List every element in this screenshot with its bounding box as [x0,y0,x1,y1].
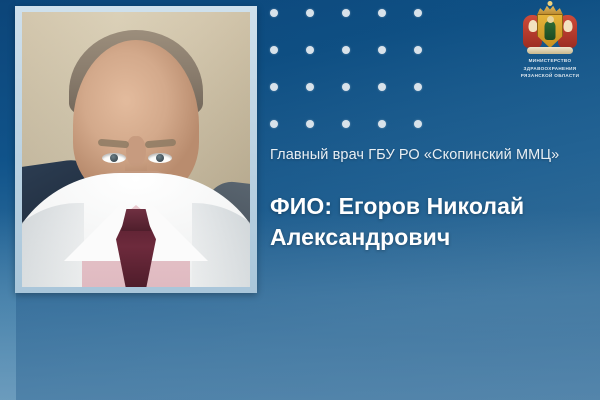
photo-coat-shade-right [192,203,250,287]
decorative-dot [270,46,278,54]
photo-eyebrow-left [145,139,176,149]
decorative-dot [270,83,278,91]
decorative-dot [378,46,386,54]
decorative-dot [378,120,386,128]
decorative-dot [306,83,314,91]
decorative-dot [342,9,350,17]
decorative-dot [378,9,386,17]
decorative-dot [414,83,422,91]
crown-orb-icon [548,1,553,6]
ministry-name-line-3: РЯЗАНСКОЙ ОБЛАСТИ [508,73,592,79]
decorative-dot [414,46,422,54]
decorative-dot [306,46,314,54]
ministry-name-line-2: ЗДРАВООХРАНЕНИЯ [508,66,592,72]
decorative-dot [270,120,278,128]
photo-coat-shade-left [22,203,84,287]
decorative-dot [342,83,350,91]
decorative-dot [414,120,422,128]
coat-of-arms-icon [523,4,577,56]
left-edge-accent [0,0,16,400]
decorative-dot [342,120,350,128]
decorative-dot [306,9,314,17]
ministry-name-line-1: МИНИСТЕРСТВО [508,58,592,64]
photo-eye-right [102,153,126,163]
decorative-dot [414,9,422,17]
portrait-photo-frame [15,6,257,293]
slide-root: Главный врач ГБУ РО «Скопинский ММЦ» ФИО… [0,0,600,400]
photo-eyebrow-right [98,139,129,149]
ministry-emblem: МИНИСТЕРСТВО ЗДРАВООХРАНЕНИЯ РЯЗАНСКОЙ О… [508,4,592,80]
decorative-dot [270,9,278,17]
photo-eye-left [148,153,172,163]
page-title: ФИО: Егоров Николай Александрович [270,191,586,253]
shield-figure-icon [545,21,556,40]
coat-of-arms-base [527,47,573,54]
decorative-dot [378,83,386,91]
position-subtitle: Главный врач ГБУ РО «Скопинский ММЦ» [270,145,586,165]
decorative-dot [306,120,314,128]
decorative-dot [342,46,350,54]
portrait-photo [22,12,250,287]
